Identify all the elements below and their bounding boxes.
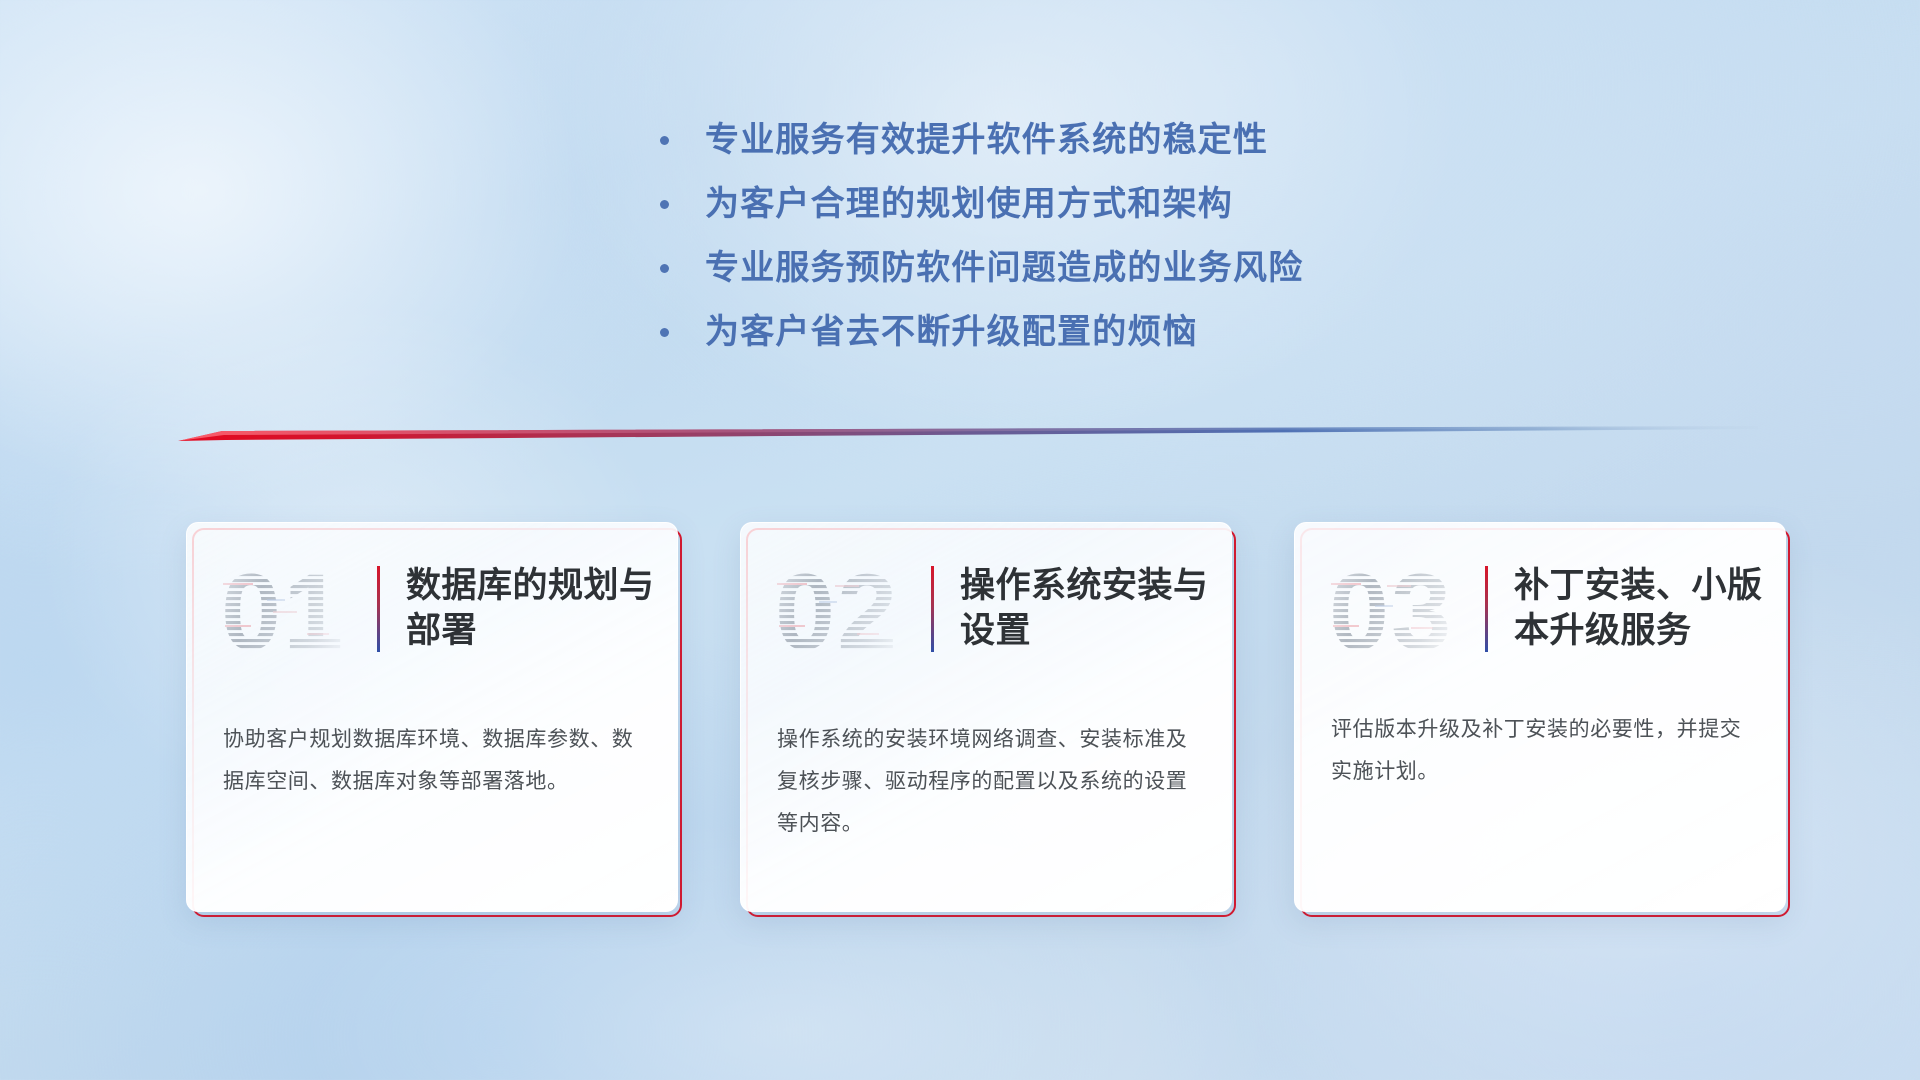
svg-text:02: 02 (775, 551, 899, 669)
card-header: 01 数据库的规划与部署 (187, 549, 677, 669)
list-item: 专业服务预防软件问题造成的业务风险 (660, 236, 1303, 300)
card-title-divider (931, 566, 934, 652)
card-header: 03 补丁安装、小版本升级服务 (1295, 549, 1785, 669)
card-surface: 02 操作系统安装与设置 操作系统的安装环境网络调查、安装标准及复核步骤、驱动程… (740, 522, 1232, 912)
benefits-list: 专业服务有效提升软件系统的稳定性 为客户合理的规划使用方式和架构 专业服务预防软… (660, 108, 1303, 364)
ghost-number-02: 02 (773, 549, 923, 669)
card-title-divider (377, 566, 380, 652)
ghost-number-03: 03 (1327, 549, 1477, 669)
ghost-number-graphic: 01 (219, 549, 369, 669)
ghost-number-01: 01 (219, 549, 369, 669)
bullet-text: 专业服务预防软件问题造成的业务风险 (705, 251, 1303, 285)
card-header: 02 操作系统安装与设置 (741, 549, 1231, 669)
card-title-divider (1485, 566, 1488, 652)
card-02[interactable]: 02 操作系统安装与设置 操作系统的安装环境网络调查、安装标准及复核步骤、驱动程… (740, 522, 1232, 912)
bullet-text: 为客户合理的规划使用方式和架构 (705, 187, 1233, 221)
list-item: 为客户合理的规划使用方式和架构 (660, 172, 1303, 236)
divider-graphic (178, 424, 1758, 448)
list-item: 专业服务有效提升软件系统的稳定性 (660, 108, 1303, 172)
card-body-text: 操作系统的安装环境网络调查、安装标准及复核步骤、驱动程序的配置以及系统的设置等内… (777, 719, 1201, 845)
card-body-text: 评估版本升级及补丁安装的必要性，并提交实施计划。 (1331, 709, 1755, 793)
ghost-number-graphic: 02 (773, 549, 923, 669)
bullet-dot-icon (660, 136, 669, 145)
bullet-text: 专业服务有效提升软件系统的稳定性 (705, 123, 1268, 157)
card-surface: 01 数据库的规划与部署 协助客户规划数据库环境、数据库参数、数据库空间、数据库… (186, 522, 678, 912)
card-01[interactable]: 01 数据库的规划与部署 协助客户规划数据库环境、数据库参数、数据库空间、数据库… (186, 522, 678, 912)
card-body-text: 协助客户规划数据库环境、数据库参数、数据库空间、数据库对象等部署落地。 (223, 719, 647, 803)
card-title: 补丁安装、小版本升级服务 (1514, 564, 1785, 654)
bullet-dot-icon (660, 328, 669, 337)
service-cards: 01 数据库的规划与部署 协助客户规划数据库环境、数据库参数、数据库空间、数据库… (186, 522, 1786, 912)
bullet-dot-icon (660, 200, 669, 209)
card-surface: 03 补丁安装、小版本升级服务 评估版本升级及补丁安装的必要性，并提交实施计划。 (1294, 522, 1786, 912)
bullet-text: 为客户省去不断升级配置的烦恼 (705, 315, 1198, 349)
card-03[interactable]: 03 补丁安装、小版本升级服务 评估版本升级及补丁安装的必要性，并提交实施计划。 (1294, 522, 1786, 912)
svg-text:03: 03 (1329, 551, 1453, 669)
svg-text:01: 01 (221, 551, 345, 669)
card-title: 数据库的规划与部署 (406, 564, 677, 654)
list-item: 为客户省去不断升级配置的烦恼 (660, 300, 1303, 364)
ghost-number-graphic: 03 (1327, 549, 1477, 669)
card-title: 操作系统安装与设置 (960, 564, 1231, 654)
section-divider (178, 424, 1758, 448)
bullet-dot-icon (660, 264, 669, 273)
